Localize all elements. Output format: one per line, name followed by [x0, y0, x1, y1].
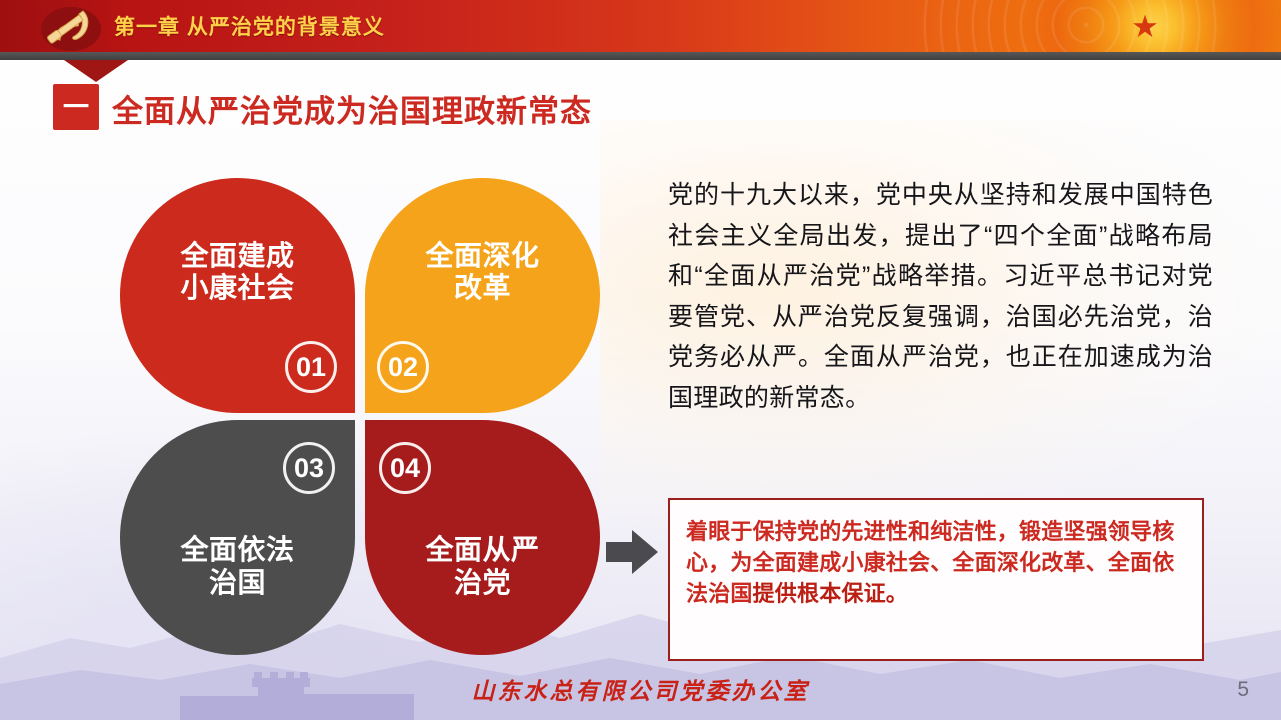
section-title: 全面从严治党成为治国理政新常态 [112, 86, 592, 131]
petal-03-label: 全面依法 治国 [180, 534, 294, 599]
concentric-rings-decoration [921, 0, 1221, 52]
header-underbar [0, 52, 1281, 60]
petal-01-label: 全面建成 小康社会 [180, 240, 294, 305]
summary-callout-text: 着眼于保持党的先进性和纯洁性，锻造坚强领导核心，为全面建成小康社会、全面深化改革… [670, 500, 1202, 610]
petal-01-number: 01 [285, 341, 337, 393]
petal-02-label: 全面深化 改革 [425, 240, 539, 305]
petal-01[interactable]: 全面建成 小康社会 01 [120, 178, 355, 413]
summary-callout-box: 着眼于保持党的先进性和纯洁性，锻造坚强领导核心，为全面建成小康社会、全面深化改革… [668, 498, 1204, 661]
arrow-right-icon [606, 528, 658, 576]
petal-04-label: 全面从严 治党 [425, 534, 539, 599]
chapter-title: 第一章 从严治党的背景意义 [114, 11, 385, 41]
body-paragraph: 党的十九大以来，党中央从坚持和发展中国特色社会主义全局出发，提出了“四个全面”战… [668, 175, 1213, 418]
four-comprehensives-diagram: 全面建成 小康社会 01 全面深化 改革 02 全面依法 治国 03 全面从严 … [120, 178, 600, 648]
section-number-label: 一 [63, 94, 89, 120]
callout-text-bold: 提供根本保证。 [753, 581, 908, 606]
petal-03[interactable]: 全面依法 治国 03 [120, 420, 355, 655]
starburst-decoration [951, 0, 1281, 52]
footer-organization: 山东水总有限公司党委办公室 [0, 672, 1281, 706]
petal-02-number: 02 [377, 341, 429, 393]
five-pointed-star-icon: ★ [1130, 13, 1160, 43]
petal-04-number: 04 [379, 442, 431, 494]
petal-04[interactable]: 全面从严 治党 04 [365, 420, 600, 655]
page-number: 5 [1237, 678, 1249, 702]
section-number-badge: 一 [53, 84, 99, 130]
petal-03-number: 03 [283, 442, 335, 494]
slide-root: ★ 第一章 从严治党的背景意义 一 全面从严治党成为治国理政新常态 全面建成 小… [0, 0, 1281, 720]
petal-02[interactable]: 全面深化 改革 02 [365, 178, 600, 413]
header-chevron-decoration [64, 60, 128, 82]
hammer-and-sickle-icon [33, 3, 109, 51]
